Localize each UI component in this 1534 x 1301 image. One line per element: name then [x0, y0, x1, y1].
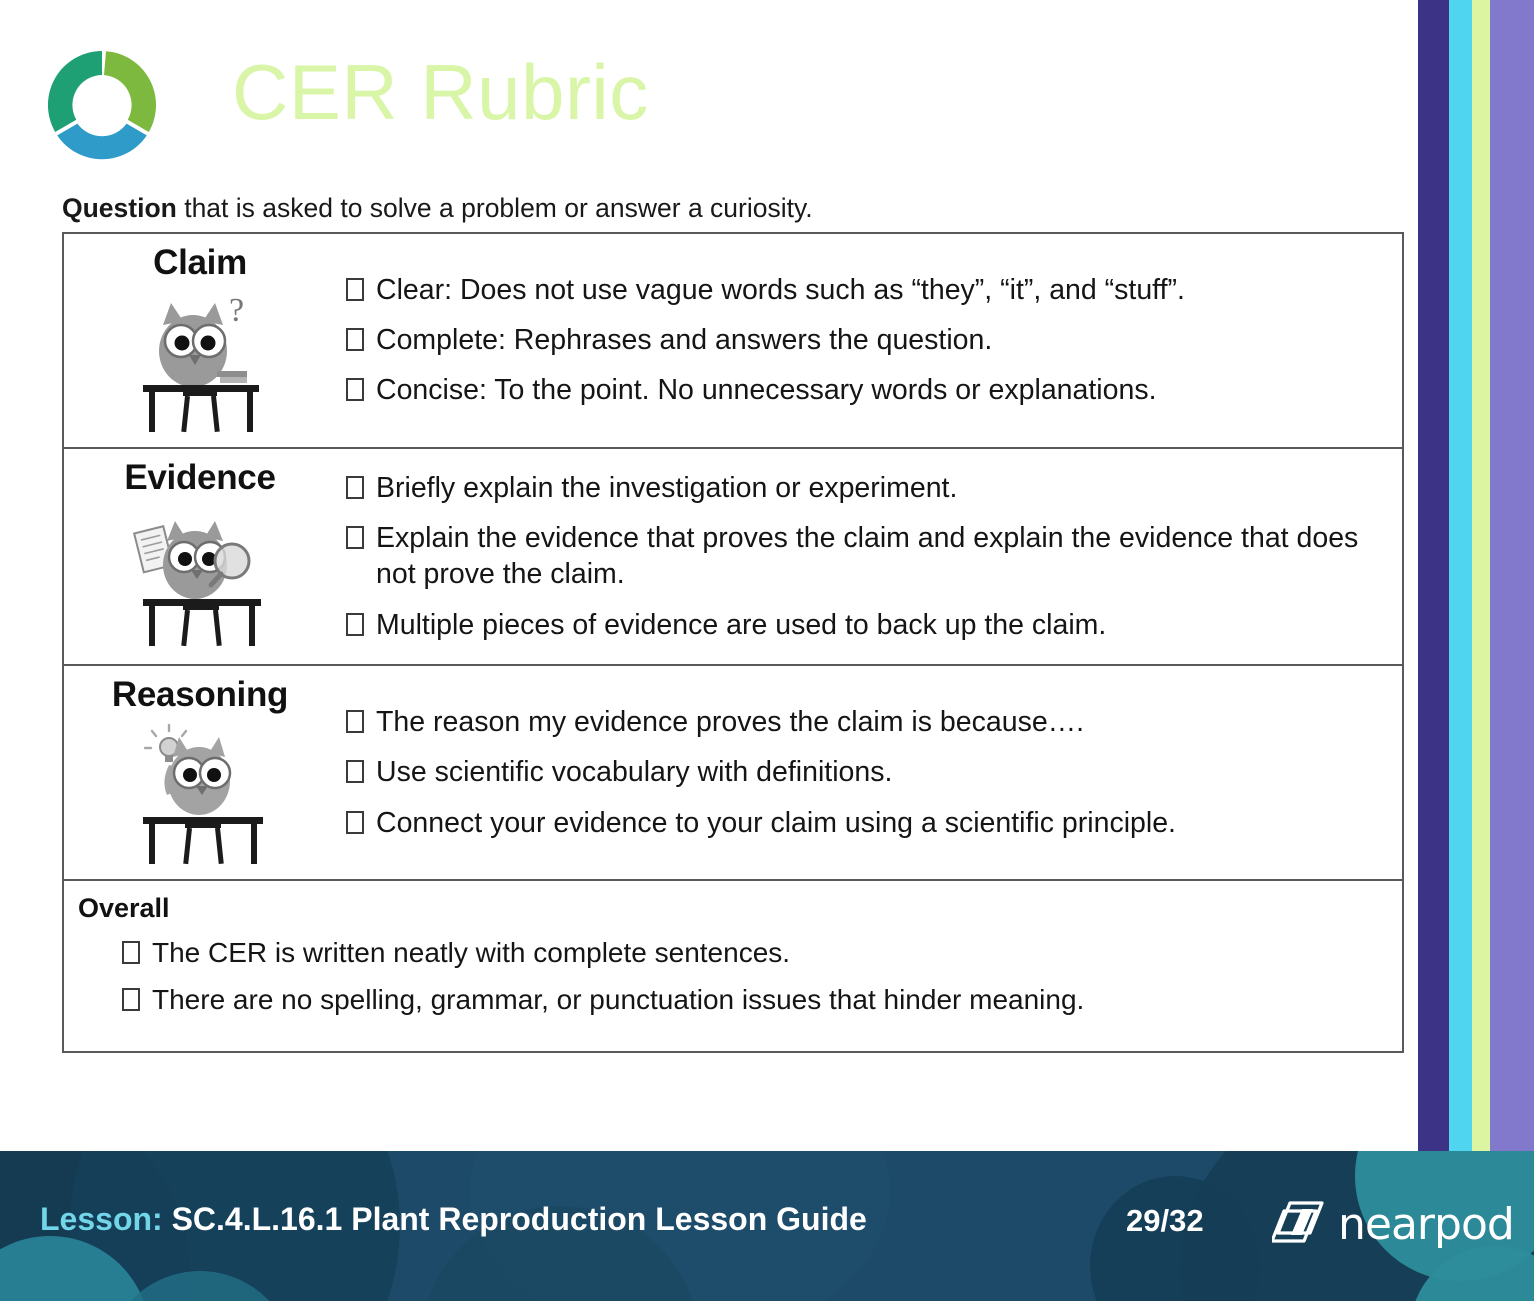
list-item[interactable]: Concise: To the point. No unnecessary wo…: [346, 372, 1384, 408]
page-title: CER Rubric: [232, 52, 649, 134]
category-label: Evidence: [124, 459, 275, 498]
checkbox-icon[interactable]: [346, 760, 364, 783]
stripe-lime: [1472, 0, 1490, 1151]
list-item[interactable]: There are no spelling, grammar, or punct…: [122, 982, 1384, 1018]
checkbox-icon[interactable]: [346, 328, 364, 351]
table-row: Reasoning: [64, 666, 1402, 881]
category-cell-evidence: Evidence: [64, 449, 336, 665]
list-item[interactable]: Multiple pieces of evidence are used to …: [346, 607, 1384, 643]
list-item[interactable]: Complete: Rephrases and answers the ques…: [346, 322, 1384, 358]
criterion-text: Complete: Rephrases and answers the ques…: [376, 322, 1384, 358]
page-indicator: 29/32: [1126, 1203, 1204, 1239]
owl-with-paper-and-magnifier-at-desk-icon: [125, 499, 275, 649]
question-statement: Question that is asked to solve a proble…: [62, 193, 813, 224]
owl-with-question-mark-at-desk-icon: ?: [125, 285, 275, 435]
criterion-text: There are no spelling, grammar, or punct…: [152, 982, 1384, 1018]
criterion-text: Use scientific vocabulary with definitio…: [376, 754, 1384, 790]
list-item[interactable]: The CER is written neatly with complete …: [122, 935, 1384, 971]
criterion-text: The reason my evidence proves the claim …: [376, 704, 1384, 740]
criterion-text: Concise: To the point. No unnecessary wo…: [376, 372, 1384, 408]
svg-text:?: ?: [229, 292, 244, 329]
criterion-text: The CER is written neatly with complete …: [152, 935, 1384, 971]
criteria-list-overall: The CER is written neatly with complete …: [78, 935, 1384, 1018]
cer-rubric-table: Claim ?: [62, 232, 1404, 1053]
list-item[interactable]: Briefly explain the investigation or exp…: [346, 470, 1384, 506]
footer-bar: Lesson: SC.4.L.16.1 Plant Reproduction L…: [0, 1151, 1534, 1301]
criterion-text: Explain the evidence that proves the cla…: [376, 520, 1384, 593]
nearpod-parallelogram-logo-icon: [1272, 1199, 1328, 1251]
criterion-text: Clear: Does not use vague words such as …: [376, 272, 1384, 308]
stripe-purple: [1490, 0, 1534, 1151]
lesson-key: Lesson:: [40, 1201, 163, 1237]
category-label: Reasoning: [112, 676, 288, 715]
checkbox-icon[interactable]: [346, 526, 364, 549]
criterion-text: Briefly explain the investigation or exp…: [376, 470, 1384, 506]
list-item[interactable]: Explain the evidence that proves the cla…: [346, 520, 1384, 593]
list-item[interactable]: Connect your evidence to your claim usin…: [346, 805, 1384, 841]
question-label: Question: [62, 193, 177, 223]
slide-canvas: CER Rubric Question that is asked to sol…: [0, 0, 1418, 1151]
lesson-value: SC.4.L.16.1 Plant Reproduction Lesson Gu…: [163, 1201, 867, 1237]
criteria-list-evidence: Briefly explain the investigation or exp…: [336, 449, 1402, 665]
lesson-label: Lesson: SC.4.L.16.1 Plant Reproduction L…: [40, 1201, 867, 1238]
criteria-list-reasoning: The reason my evidence proves the claim …: [336, 666, 1402, 879]
criteria-list-claim: Clear: Does not use vague words such as …: [336, 234, 1402, 447]
checkbox-icon[interactable]: [346, 476, 364, 499]
category-label: Claim: [153, 244, 247, 283]
checkbox-icon[interactable]: [346, 613, 364, 636]
slide-header: CER Rubric: [0, 0, 1418, 185]
stripe-indigo: [1418, 0, 1449, 1151]
checkbox-icon[interactable]: [346, 710, 364, 733]
decorative-color-stripes: [1418, 0, 1534, 1151]
checkbox-icon[interactable]: [122, 941, 140, 964]
cycle-donut-logo-icon: [40, 43, 164, 167]
checkbox-icon[interactable]: [346, 278, 364, 301]
question-text: that is asked to solve a problem or answ…: [177, 193, 813, 223]
owl-with-lightbulb-at-desk-icon: [125, 717, 275, 867]
checkbox-icon[interactable]: [346, 811, 364, 834]
criterion-text: Multiple pieces of evidence are used to …: [376, 607, 1384, 643]
criterion-text: Connect your evidence to your claim usin…: [376, 805, 1384, 841]
nearpod-brand[interactable]: nearpod: [1272, 1199, 1514, 1251]
checkbox-icon[interactable]: [122, 988, 140, 1011]
list-item[interactable]: Clear: Does not use vague words such as …: [346, 272, 1384, 308]
category-cell-claim: Claim ?: [64, 234, 336, 447]
overall-label: Overall: [78, 893, 1384, 924]
table-row: Evidence: [64, 449, 1402, 667]
table-row-overall: Overall The CER is written neatly with c…: [64, 881, 1402, 1051]
list-item[interactable]: Use scientific vocabulary with definitio…: [346, 754, 1384, 790]
brand-name: nearpod: [1338, 1203, 1514, 1247]
list-item[interactable]: The reason my evidence proves the claim …: [346, 704, 1384, 740]
table-row: Claim ?: [64, 234, 1402, 449]
checkbox-icon[interactable]: [346, 378, 364, 401]
category-cell-reasoning: Reasoning: [64, 666, 336, 879]
stripe-cyan: [1449, 0, 1472, 1151]
